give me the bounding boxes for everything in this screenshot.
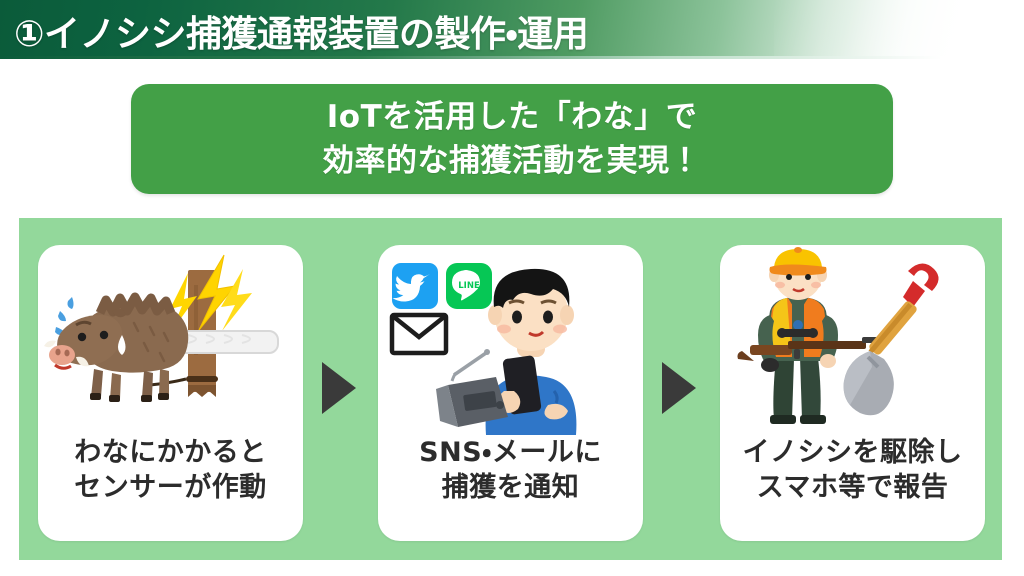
step-1-caption: わなにかかると センサーが作動 [38,435,303,505]
step-2-caption-line-2: 捕獲を通知 [378,470,643,505]
step-3-illustration [720,245,985,435]
step-3-caption-line-1: イノシシを駆除し [720,435,985,470]
step-1-illustration [38,245,303,435]
page-title: ①イノシシ捕獲通報装置の製作・運用 [14,5,588,57]
flow-arrow-2 [658,360,698,416]
header-gradient-fade [774,0,1024,58]
boar-trap-svg [38,245,303,435]
twitter-icon [392,263,438,309]
step-3-caption: イノシシを駆除し スマホ等で報告 [720,435,985,505]
highlight-banner: IoTを活用した「わな」で 効率的な捕獲活動を実現！ [131,84,893,194]
step-3-caption-line-2: スマホ等で報告 [720,470,985,505]
flow-step-card-3[interactable]: イノシシを駆除し スマホ等で報告 [720,245,985,541]
shovel-icon [844,263,939,415]
slide-root: ①イノシシ捕獲通報装置の製作・運用 IoTを活用した「わな」で 効率的な捕獲活動… [0,0,1024,576]
line-badge-text: LINE [458,281,480,291]
step-1-caption-line-1: わなにかかると [38,435,303,470]
boar-icon [44,297,188,402]
notify-svg: LINE [378,245,643,435]
step-2-caption-line-1: SNS・メールに [378,435,643,470]
radio-receiver-icon [436,349,508,427]
step-2-caption: SNS・メールに 捕獲を通知 [378,435,643,505]
flow-step-card-2[interactable]: LINE [378,245,643,541]
triangle-right-icon [318,360,358,416]
hunter-svg [720,245,985,435]
line-icon: LINE [446,263,492,309]
flow-step-card-1[interactable]: わなにかかると センサーが作動 [38,245,303,541]
banner-line-1: IoTを活用した「わな」で [327,95,697,139]
step-1-caption-line-2: センサーが作動 [38,470,303,505]
mail-icon [392,315,446,353]
triangle-right-icon [658,360,698,416]
step-2-illustration: LINE [378,245,643,435]
banner-line-2: 効率的な捕獲活動を実現！ [323,139,701,183]
flow-arrow-1 [318,360,358,416]
